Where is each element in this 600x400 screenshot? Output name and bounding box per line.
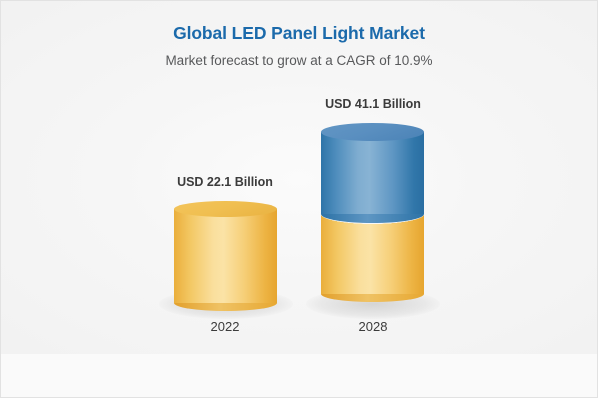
bar-body-2022	[174, 209, 277, 303]
axis-label-2028: 2028	[297, 319, 449, 334]
bar-body-base-segment-2028	[321, 214, 424, 294]
chart-card: Global LED Panel Light Market Market for…	[0, 0, 598, 398]
bar-value-label-2022: USD 22.1 Billion	[149, 175, 301, 189]
bar-cylinder-2022[interactable]	[174, 201, 277, 303]
axis-label-2022: 2022	[149, 319, 301, 334]
chart-plot-area: USD 22.1 Billion USD 41.1 Billion 2022 2…	[1, 1, 598, 353]
footer: https://www.researchandmarkets.com/repor…	[1, 354, 597, 398]
bar-value-label-2028: USD 41.1 Billion	[297, 97, 449, 111]
bar-cylinder-2028[interactable]	[321, 123, 424, 303]
bar-top-ellipse-2028	[321, 123, 424, 141]
bar-top-ellipse-2022	[174, 201, 277, 217]
bar-body-growth-segment-2028	[321, 132, 424, 214]
